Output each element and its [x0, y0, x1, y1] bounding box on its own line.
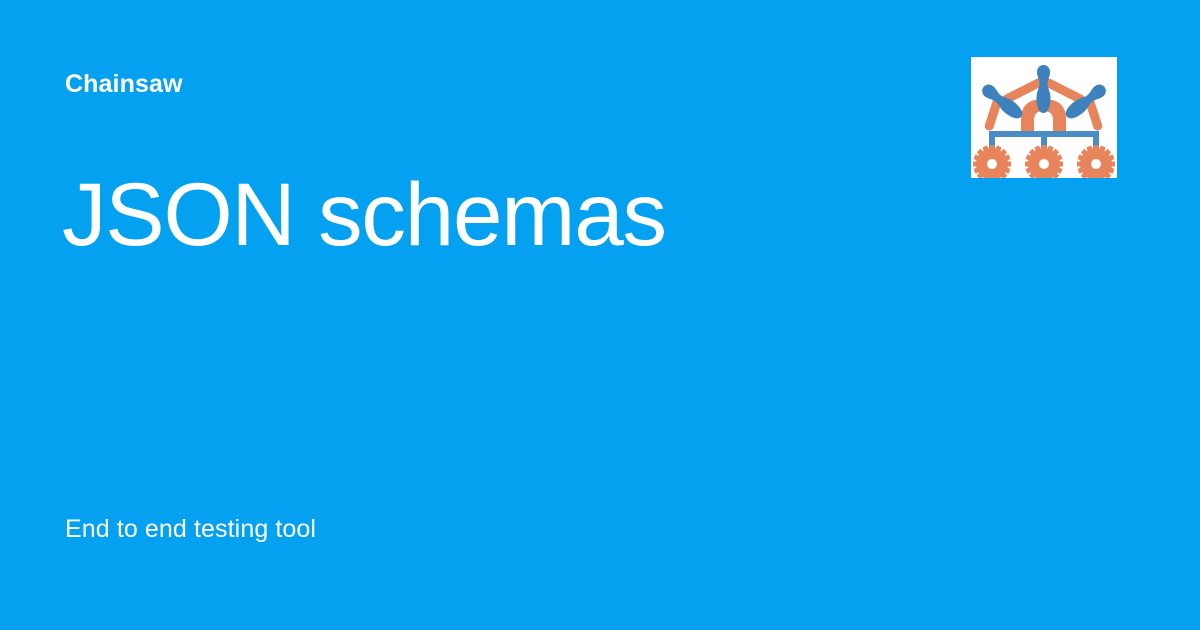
pin-left [979, 81, 1025, 122]
pin-center [1037, 65, 1051, 113]
gear-left [973, 145, 1011, 178]
pin-right [1062, 81, 1108, 122]
gear-center [1025, 145, 1063, 178]
gear-right [1077, 145, 1115, 178]
brand-name: Chainsaw [65, 72, 183, 97]
page-title: JSON schemas [62, 168, 666, 261]
pin-right-group [1062, 81, 1108, 122]
chainsaw-logo [971, 57, 1117, 178]
chainsaw-logo-graphic [971, 57, 1117, 178]
gears [973, 145, 1115, 178]
social-card: Chainsaw JSON schemas End to end testing… [0, 0, 1200, 630]
pin-left-group [979, 81, 1025, 122]
tagline: End to end testing tool [65, 514, 316, 544]
